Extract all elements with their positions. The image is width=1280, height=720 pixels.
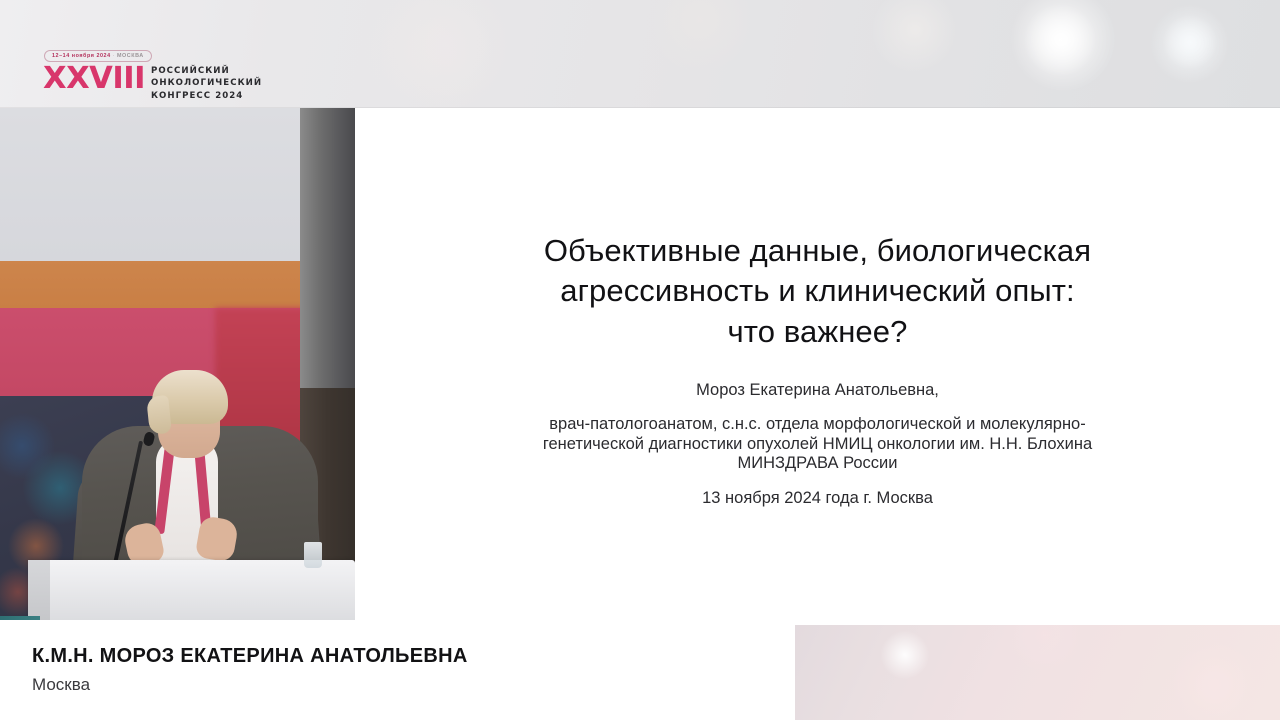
slide-date-place: 13 ноября 2024 года г. Москва: [702, 487, 933, 509]
slide-title: Объективные данные, биологическая агресс…: [438, 231, 1198, 352]
bokeh-light: [380, 0, 510, 108]
slide-title-line-2: агрессивность и клинический опыт:: [438, 271, 1198, 311]
congress-logo: 12–14 ноября 2024·МОСКВА XXVIII РОССИЙСК…: [44, 44, 274, 102]
slide-content: Объективные данные, биологическая агресс…: [355, 108, 1280, 620]
slide-title-line-1: Объективные данные, биологическая: [438, 231, 1198, 271]
logo-date-range: 12–14 ноября 2024: [52, 53, 111, 59]
slide-affiliation-line-2: генетической диагностики опухолей НМИЦ о…: [468, 435, 1168, 455]
logo-main-row: XXVIII РОССИЙСКИЙ ОНКОЛОГИЧЕСКИЙ КОНГРЕС…: [44, 64, 274, 102]
podium: [28, 560, 355, 620]
slide-affiliation-line-3: МИНЗДРАВА России: [468, 454, 1168, 474]
bokeh-light: [1150, 4, 1230, 84]
logo-congress-name: РОССИЙСКИЙ ОНКОЛОГИЧЕСКИЙ КОНГРЕСС 2024: [151, 64, 262, 102]
slide-affiliation: врач-патологоанатом, с.н.с. отдела морфо…: [468, 415, 1168, 474]
slide-affiliation-line-1: врач-патологоанатом, с.н.с. отдела морфо…: [468, 415, 1168, 435]
slide-author-name: Мороз Екатерина Анатольевна,: [696, 379, 939, 401]
water-glass: [304, 542, 322, 568]
bokeh-light: [1010, 0, 1116, 92]
speaker-video-panel[interactable]: [0, 108, 355, 620]
podium-side: [28, 560, 50, 620]
logo-date-city: МОСКВА: [117, 53, 144, 59]
caption-speaker-name: К.М.Н. МОРОЗ ЕКАТЕРИНА АНАТОЛЬЕВНА: [32, 645, 468, 668]
logo-name-line-2: ОНКОЛОГИЧЕСКИЙ: [151, 77, 262, 89]
header-bar: 12–14 ноября 2024·МОСКВА XXVIII РОССИЙСК…: [0, 0, 1280, 108]
logo-name-line-3: КОНГРЕСС 2024: [151, 90, 262, 102]
secondary-video-feed[interactable]: [795, 625, 1280, 720]
slide-title-line-3: что важнее?: [438, 312, 1198, 352]
speaker-caption: К.М.Н. МОРОЗ ЕКАТЕРИНА АНАТОЛЬЕВНА Москв…: [32, 645, 468, 695]
stream-stage: 12–14 ноября 2024·МОСКВА XXVIII РОССИЙСК…: [0, 0, 1280, 720]
logo-roman-numeral: XXVIII: [43, 64, 145, 93]
logo-name-line-1: РОССИЙСКИЙ: [151, 65, 262, 77]
caption-speaker-city: Москва: [32, 675, 468, 695]
presentation-slide[interactable]: Объективные данные, биологическая агресс…: [355, 108, 1280, 620]
